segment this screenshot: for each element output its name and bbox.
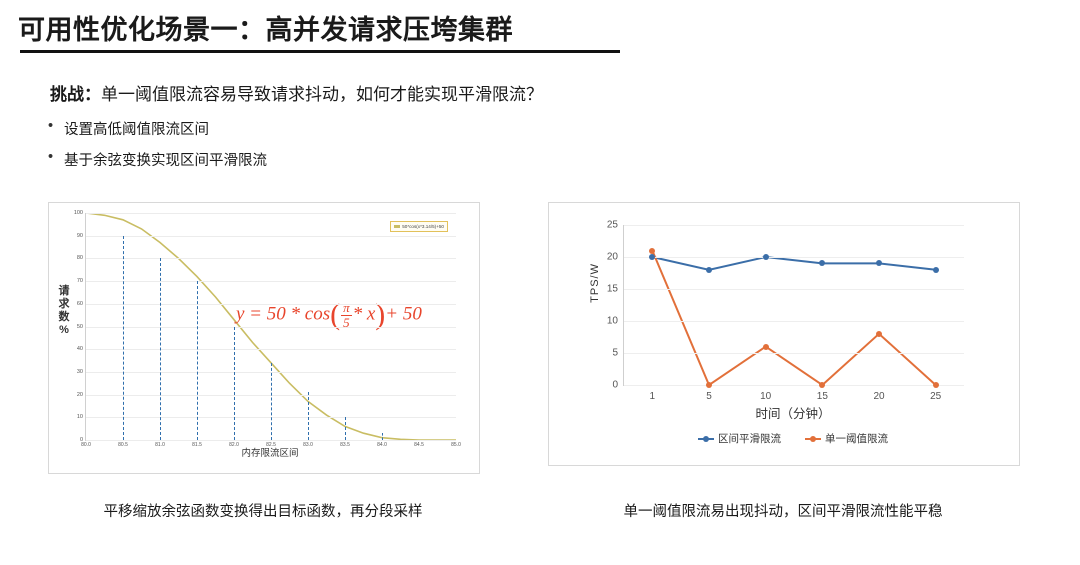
y-axis-tick: 25 xyxy=(607,220,618,231)
bullet-marker-icon: • xyxy=(48,118,64,134)
y-axis-tick: 60 xyxy=(77,301,83,307)
data-point xyxy=(649,248,655,254)
sample-dashed-line xyxy=(382,433,383,440)
data-point xyxy=(876,331,882,337)
formula-tail: + 50 xyxy=(385,304,422,325)
legend-label: 单一阈值限流 xyxy=(825,431,888,446)
sample-dashed-line xyxy=(123,236,124,440)
gridline xyxy=(86,327,456,328)
legend-item[interactable]: 区间平滑限流 xyxy=(698,431,781,446)
x-axis-tick: 20 xyxy=(873,391,884,402)
data-point xyxy=(933,267,939,273)
sample-dashed-line xyxy=(345,417,346,440)
data-point xyxy=(649,254,655,260)
y-axis-tick: 50 xyxy=(77,324,83,330)
sample-dashed-line xyxy=(234,327,235,441)
formula-annotation: y = 50 * cos(π5* x)+ 50 xyxy=(236,301,422,329)
sample-dashed-line xyxy=(271,363,272,440)
y-axis-tick: 100 xyxy=(74,210,83,216)
tps-chart-panel: TPS/W 05101520251510152025 时间（分钟） 区间平滑限流… xyxy=(548,202,1020,466)
list-item: • 设置高低阈值限流区间 xyxy=(48,118,267,139)
x-axis-tick: 10 xyxy=(760,391,771,402)
data-point xyxy=(763,254,769,260)
challenge-line: 挑战：单一阈值限流容易导致请求抖动，如何才能实现平滑限流？ xyxy=(50,80,543,105)
gridline xyxy=(86,281,456,282)
tps-chart-xlabel: 时间（分钟） xyxy=(623,403,963,422)
y-axis-tick: 80 xyxy=(77,255,83,261)
data-point xyxy=(933,382,939,388)
y-axis-tick: 10 xyxy=(607,316,618,327)
right-caption: 单一阈值限流易出现抖动，区间平滑限流性能平稳 xyxy=(548,500,1018,521)
formula-lhs: y = 50 * cos xyxy=(236,304,330,325)
gridline xyxy=(86,304,456,305)
x-axis-tick: 15 xyxy=(817,391,828,402)
gridline xyxy=(86,213,456,214)
data-point xyxy=(763,344,769,350)
left-caption: 平移缩放余弦函数变换得出目标函数，再分段采样 xyxy=(48,500,478,521)
sample-dashed-line xyxy=(160,258,161,440)
formula-inner: * x xyxy=(353,304,376,325)
cosine-chart-ylabel: 请求数% xyxy=(53,285,75,337)
sample-dashed-line xyxy=(197,281,198,440)
y-axis-tick: 30 xyxy=(77,369,83,375)
bullet-text: 设置高低阈值限流区间 xyxy=(64,118,209,139)
legend-swatch-icon xyxy=(805,438,821,440)
y-axis-tick: 5 xyxy=(612,348,618,359)
bullet-text: 基于余弦变换实现区间平滑限流 xyxy=(64,149,267,170)
x-axis-tick: 25 xyxy=(930,391,941,402)
legend-label: 区间平滑限流 xyxy=(718,431,781,446)
y-axis-tick: 20 xyxy=(77,392,83,398)
tps-chart-legend: 区间平滑限流单一阈值限流 xyxy=(623,431,963,446)
data-point xyxy=(819,382,825,388)
data-point xyxy=(706,267,712,273)
y-axis-tick: 0 xyxy=(612,380,618,391)
y-axis-tick: 70 xyxy=(77,278,83,284)
sample-dashed-line xyxy=(308,392,309,440)
y-axis-tick: 20 xyxy=(607,252,618,263)
gridline xyxy=(624,289,964,290)
gridline xyxy=(624,225,964,226)
y-axis-tick: 10 xyxy=(77,414,83,420)
gridline xyxy=(86,236,456,237)
tps-chart-ylabel: TPS/W xyxy=(589,263,601,303)
data-point xyxy=(706,382,712,388)
gridline xyxy=(86,258,456,259)
challenge-text: 单一阈值限流容易导致请求抖动，如何才能实现平滑限流？ xyxy=(101,85,543,104)
gridline xyxy=(86,440,456,441)
tps-series-paths xyxy=(624,225,964,385)
legend-swatch-icon xyxy=(698,438,714,440)
y-axis-tick: 40 xyxy=(77,346,83,352)
x-axis-tick: 5 xyxy=(706,391,712,402)
title-underline xyxy=(20,50,620,53)
gridline xyxy=(624,353,964,354)
data-point xyxy=(876,260,882,266)
x-axis-tick: 1 xyxy=(650,391,656,402)
gridline xyxy=(624,321,964,322)
list-item: • 基于余弦变换实现区间平滑限流 xyxy=(48,149,267,170)
tps-chart-plot: 05101520251510152025 xyxy=(623,225,964,386)
page-title: 可用性优化场景一：高并发请求压垮集群 xyxy=(18,8,513,47)
bullet-marker-icon: • xyxy=(48,149,64,165)
y-axis-tick: 90 xyxy=(77,233,83,239)
gridline xyxy=(86,349,456,350)
challenge-label: 挑战： xyxy=(50,85,101,104)
y-axis-tick: 15 xyxy=(607,284,618,295)
cosine-chart-panel: 请求数% 50*cos(x*3.14/5)+50 y = 50 * cos(π5… xyxy=(48,202,480,474)
formula-fraction: π5 xyxy=(341,301,352,329)
gridline xyxy=(624,257,964,258)
bullet-list: • 设置高低阈值限流区间 • 基于余弦变换实现区间平滑限流 xyxy=(48,118,267,180)
data-point xyxy=(819,260,825,266)
cosine-chart-xlabel: 内存限流区间 xyxy=(85,445,455,459)
legend-item[interactable]: 单一阈值限流 xyxy=(805,431,888,446)
cosine-chart-plot: 50*cos(x*3.14/5)+50 y = 50 * cos(π5* x)+… xyxy=(85,213,456,441)
gridline xyxy=(624,385,964,386)
